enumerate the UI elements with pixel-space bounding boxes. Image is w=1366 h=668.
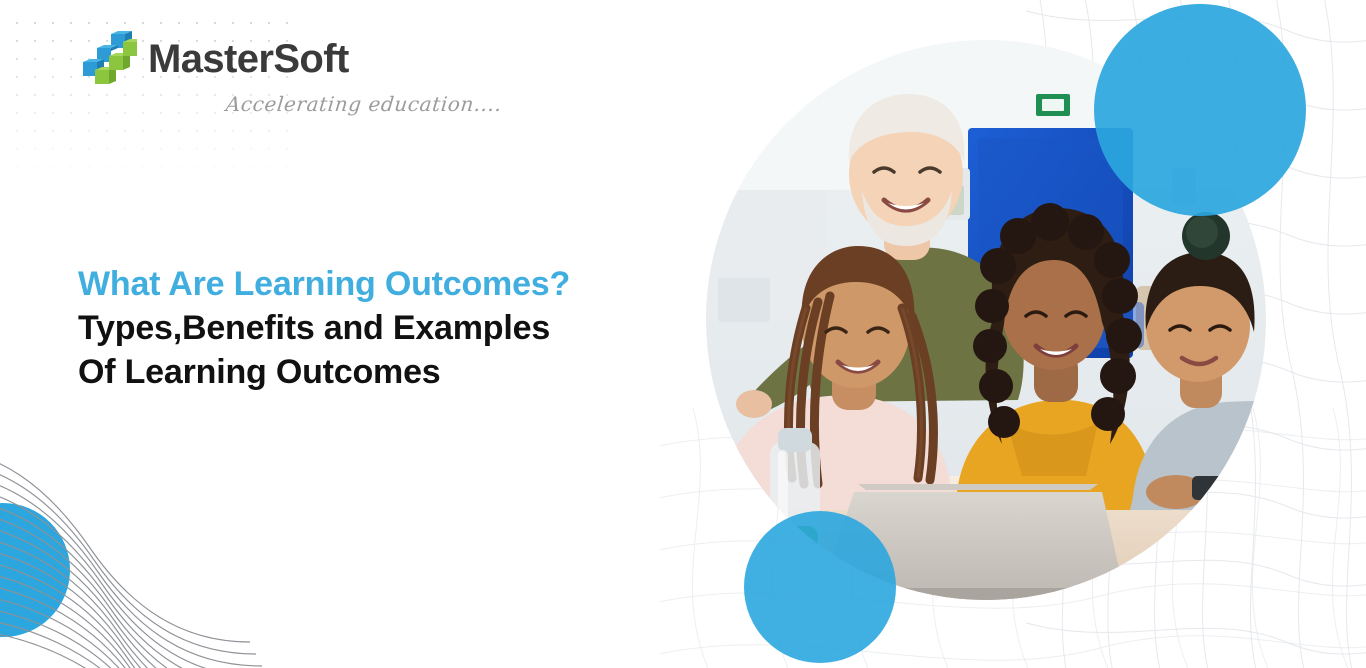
headline-line-2: Types,Benefits and Examples [78,306,678,350]
brand-logo-row: MasterSoft [78,30,349,88]
brand-wordmark: MasterSoft [148,39,349,79]
hero-banner: MasterSoft Accelerating education.... Wh… [0,0,1366,668]
brand-logo[interactable]: MasterSoft Accelerating education.... [78,30,502,116]
hero-photo [706,40,1266,600]
wave-line-pattern [0,428,360,668]
photo-laptop [814,484,1130,600]
brand-tagline: Accelerating education.... [225,92,503,116]
photo-water-bottle [770,428,820,592]
page-title: What Are Learning Outcomes? Types,Benefi… [78,262,678,394]
headline-line-1: What Are Learning Outcomes? [78,262,678,306]
mastersoft-pinwheel-logo-icon [78,30,142,88]
accent-circle-bottom-left [0,503,70,637]
headline-line-3: Of Learning Outcomes [78,350,678,394]
hero-photo-illustration [706,40,1266,600]
